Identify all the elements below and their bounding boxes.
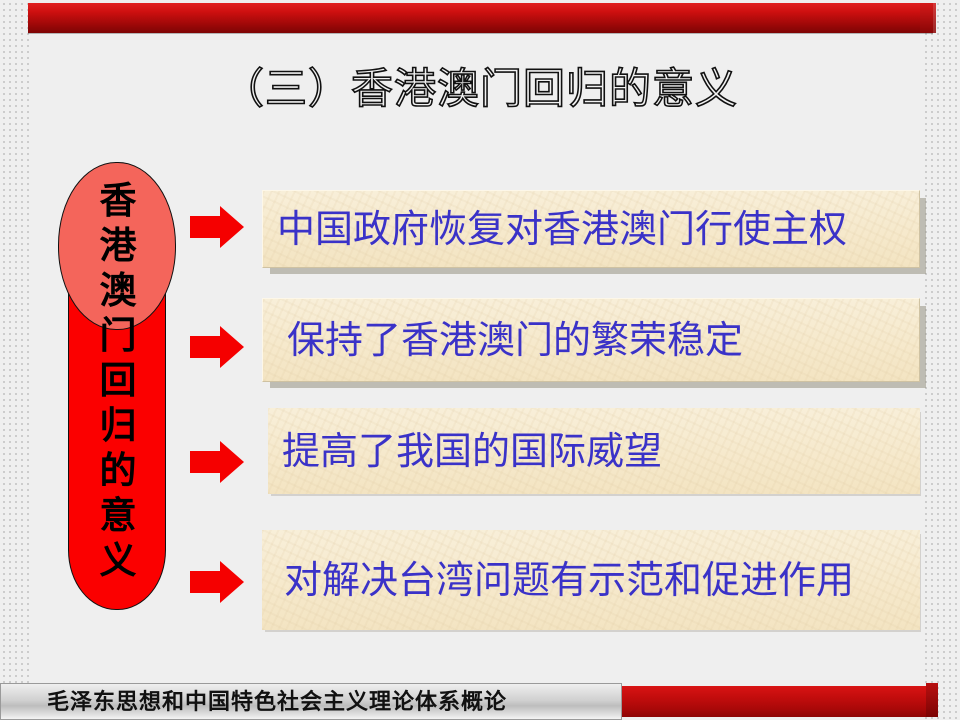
footer-plate: 毛泽东思想和中国特色社会主义理论体系概论 — [0, 683, 622, 720]
badge-char: 澳 — [100, 268, 137, 313]
point-text-4: 对解决台湾问题有示范和促进作用 — [284, 558, 854, 602]
badge-char: 回 — [100, 358, 137, 403]
right-arrow-icon — [190, 561, 244, 603]
badge-label: 香 港 澳 门 回 归 的 意 义 — [58, 178, 178, 608]
footer-course-title: 毛泽东思想和中国特色社会主义理论体系概论 — [47, 689, 507, 715]
point-bar-4: 对解决台湾问题有示范和促进作用 — [262, 530, 920, 630]
vertical-badge: 香 港 澳 门 回 归 的 意 义 — [58, 162, 178, 612]
badge-char: 的 — [100, 448, 137, 493]
right-arrow-icon — [190, 206, 244, 248]
point-bar-2: 保持了香港澳门的繁荣稳定 — [262, 298, 920, 382]
badge-char: 港 — [100, 223, 137, 268]
page-title: （三）香港澳门回归的意义 — [0, 62, 960, 116]
badge-char: 香 — [100, 178, 137, 223]
point-text-2: 保持了香港澳门的繁荣稳定 — [287, 318, 743, 362]
badge-char: 门 — [100, 313, 137, 358]
point-text-1: 中国政府恢复对香港澳门行使主权 — [277, 207, 847, 251]
right-arrow-icon — [190, 441, 244, 483]
badge-char: 义 — [100, 538, 137, 583]
point-text-3: 提高了我国的国际威望 — [282, 429, 662, 473]
badge-char: 归 — [100, 403, 137, 448]
top-red-banner-cap — [920, 3, 936, 33]
point-bar-1: 中国政府恢复对香港澳门行使主权 — [262, 190, 920, 268]
bottom-red-banner-cap — [926, 683, 938, 717]
top-red-banner — [28, 3, 933, 33]
slide-canvas: （三）香港澳门回归的意义 香 港 澳 门 回 归 的 意 义 中国政府恢复对香港… — [0, 0, 960, 720]
badge-char: 意 — [100, 493, 137, 538]
right-arrow-icon — [190, 326, 244, 368]
point-bar-3: 提高了我国的国际威望 — [268, 408, 920, 494]
